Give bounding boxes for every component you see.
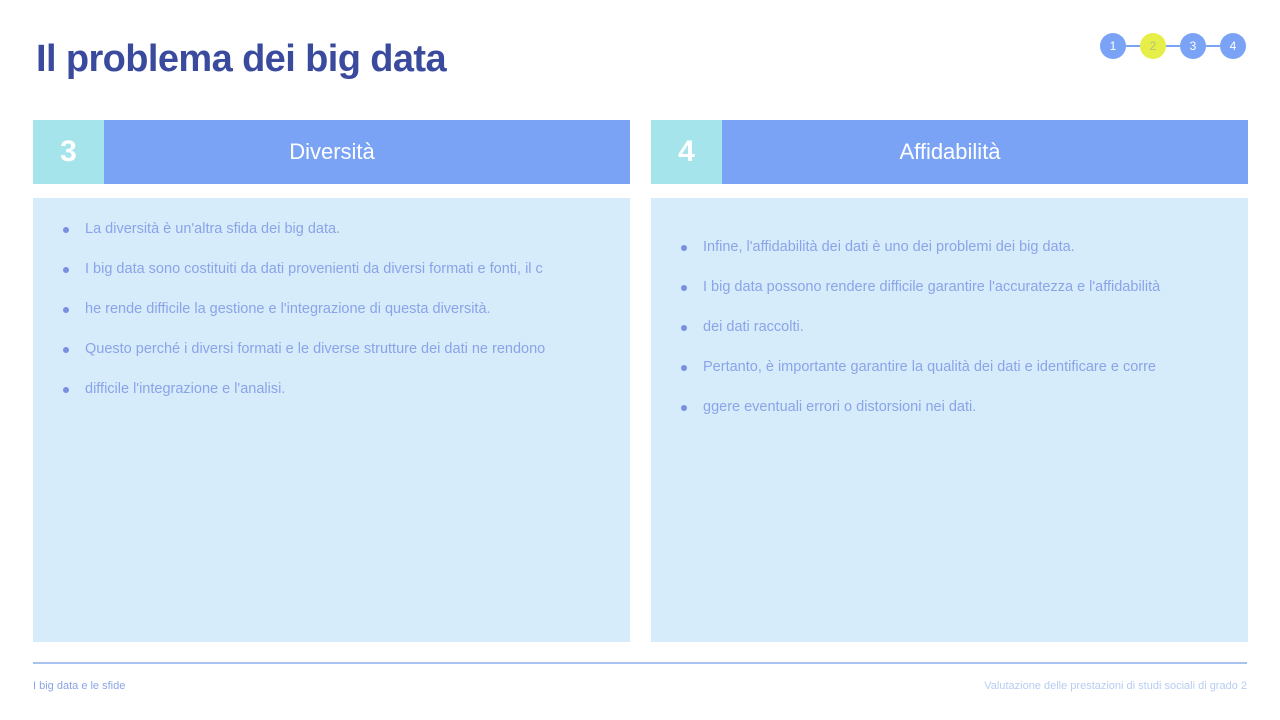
bullet-item: difficile l'integrazione e l'analisi. [59,374,604,406]
step-indicator: 1234 [1100,33,1246,59]
step-circle-2[interactable]: 2 [1140,33,1166,59]
step-connector [1166,45,1180,47]
page-title: Il problema dei big data [36,38,446,81]
step-connector [1206,45,1220,47]
card-body: La diversità è un'altra sfida dei big da… [33,198,630,642]
bullet-list: Infine, l'affidabilità dei dati è uno de… [677,232,1222,423]
footer-left-text: I big data e le sfide [33,680,125,692]
card-body: Infine, l'affidabilità dei dati è uno de… [651,198,1248,642]
bullet-item: I big data sono costituiti da dati prove… [59,254,604,286]
card-header: 4 Affidabilità [651,120,1248,184]
step-circle-3[interactable]: 3 [1180,33,1206,59]
footer-divider [33,662,1247,664]
card-number-badge: 4 [651,120,722,184]
card-title: Affidabilità [899,139,1000,165]
bullet-item: Pertanto, è importante garantire la qual… [677,352,1222,384]
slide-canvas: Il problema dei big data 1234 3 Diversit… [0,0,1280,720]
step-connector [1126,45,1140,47]
bullet-item: Infine, l'affidabilità dei dati è uno de… [677,232,1222,264]
step-circle-4[interactable]: 4 [1220,33,1246,59]
bullet-item: La diversità è un'altra sfida dei big da… [59,214,604,246]
bullet-item: he rende difficile la gestione e l'integ… [59,294,604,326]
card-title-bar: Affidabilità [722,120,1248,184]
card-title: Diversità [289,139,375,165]
bullet-list: La diversità è un'altra sfida dei big da… [59,214,604,405]
card-number-badge: 3 [33,120,104,184]
bullet-item: ggere eventuali errori o distorsioni nei… [677,392,1222,424]
step-circle-1[interactable]: 1 [1100,33,1126,59]
card-diversita: 3 Diversità La diversità è un'altra sfid… [33,120,630,642]
card-title-bar: Diversità [104,120,630,184]
bullet-item: Questo perché i diversi formati e le div… [59,334,604,366]
bullet-item: dei dati raccolti. [677,312,1222,344]
card-affidabilita: 4 Affidabilità Infine, l'affidabilità de… [651,120,1248,642]
card-header: 3 Diversità [33,120,630,184]
footer-right-text: Valutazione delle prestazioni di studi s… [984,680,1247,692]
bullet-item: I big data possono rendere difficile gar… [677,272,1222,304]
